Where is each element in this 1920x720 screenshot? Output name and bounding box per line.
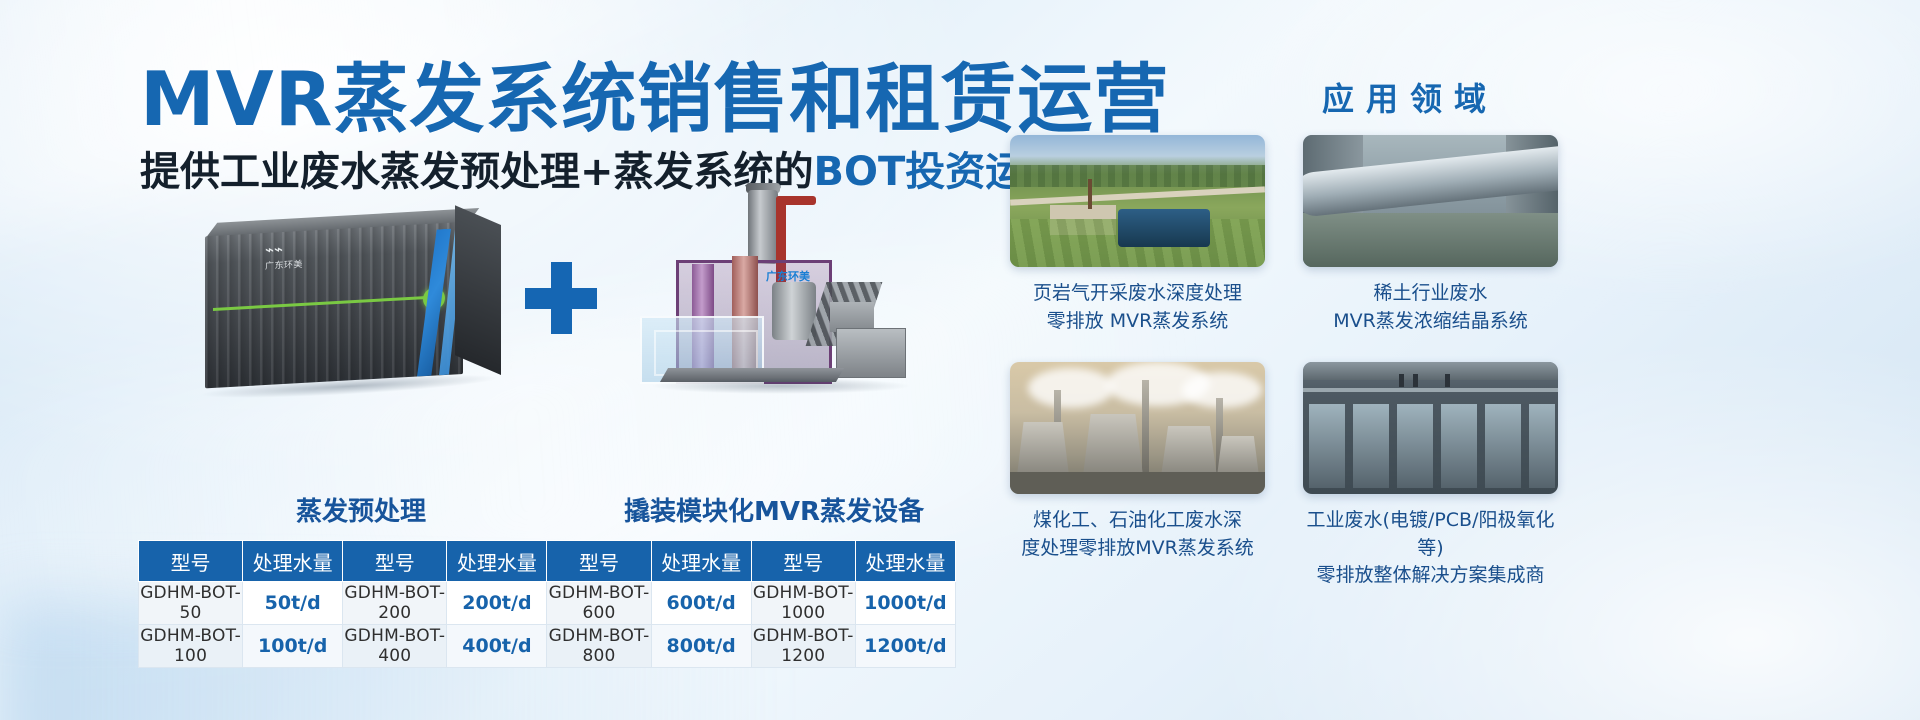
caption-line-1: 页岩气开采废水深度处理 xyxy=(1010,280,1265,308)
cell-capacity: 800t/d xyxy=(651,625,751,668)
cell-capacity: 1200t/d xyxy=(855,625,955,668)
caption-line-2: 零排放 MVR蒸发系统 xyxy=(1010,308,1265,336)
table-header-cell: 型号 xyxy=(343,541,447,582)
caption-line-1: 稀土行业废水 xyxy=(1303,280,1558,308)
application-card-caption: 页岩气开采废水深度处理 零排放 MVR蒸发系统 xyxy=(1010,280,1265,335)
page-subtitle: 提供工业废水蒸发预处理+蒸发系统的BOT投资运营 xyxy=(140,152,1065,192)
unit-body: ⌁⌁广东环美 xyxy=(205,222,463,388)
application-card-industrial-wastewater[interactable]: 工业废水(电镀/PCB/阳极氧化等) 零排放整体解决方案集成商 xyxy=(1303,362,1558,590)
skid-red-pipe-elbow xyxy=(776,196,816,205)
shale-gas-field-aerial-photo xyxy=(1010,135,1265,267)
cell-model: GDHM-BOT-1000 xyxy=(751,582,855,625)
application-card-caption: 煤化工、石油化工废水深 度处理零排放MVR蒸发系统 xyxy=(1010,507,1265,562)
cell-capacity: 200t/d xyxy=(447,582,547,625)
cell-capacity: 400t/d xyxy=(447,625,547,668)
table-header-cell: 型号 xyxy=(547,541,651,582)
cell-capacity: 600t/d xyxy=(651,582,751,625)
application-card-caption: 工业废水(电镀/PCB/阳极氧化等) 零排放整体解决方案集成商 xyxy=(1303,507,1558,590)
unit-brand-label: ⌁⌁广东环美 xyxy=(265,239,303,272)
application-card-shale-gas[interactable]: 页岩气开采废水深度处理 零排放 MVR蒸发系统 xyxy=(1010,135,1265,335)
caption-line-2: MVR蒸发浓缩结晶系统 xyxy=(1303,308,1558,336)
table-header-cell: 型号 xyxy=(751,541,855,582)
skid-vertical-tank xyxy=(748,190,778,264)
table-header-cell: 型号 xyxy=(139,541,243,582)
industrial-wastewater-tanks-photo xyxy=(1303,362,1558,494)
cell-capacity: 100t/d xyxy=(243,625,343,668)
table-header-cell: 处理水量 xyxy=(243,541,343,582)
cell-model: GDHM-BOT-1200 xyxy=(751,625,855,668)
left-content-panel: MVR蒸发系统销售和租赁运营 提供工业废水蒸发预处理+蒸发系统的BOT投资运营 … xyxy=(0,0,1010,720)
table-row: GDHM-BOT-100 100t/d GDHM-BOT-400 400t/d … xyxy=(139,625,956,668)
coal-chemical-cooling-towers-photo xyxy=(1010,362,1265,494)
application-card-coal-chemical[interactable]: 煤化工、石油化工废水深 度处理零排放MVR蒸发系统 xyxy=(1010,362,1265,562)
subtitle-prefix: 提供工业废水蒸发预处理+蒸发系统的 xyxy=(140,149,814,195)
cell-model: GDHM-BOT-800 xyxy=(547,625,651,668)
table-header-row: 型号 处理水量 型号 处理水量 型号 处理水量 型号 处理水量 xyxy=(139,541,956,582)
skid-mounted-mvr-evaporator-image: 广东环美 xyxy=(640,190,940,400)
application-card-caption: 稀土行业废水 MVR蒸发浓缩结晶系统 xyxy=(1303,280,1558,335)
table-header-cell: 处理水量 xyxy=(855,541,955,582)
banner-root: MVR蒸发系统销售和租赁运营 提供工业废水蒸发预处理+蒸发系统的BOT投资运营 … xyxy=(0,0,1920,720)
applications-title: 应用领域 xyxy=(1170,74,1650,120)
cell-model: GDHM-BOT-100 xyxy=(139,625,243,668)
unit-right-face xyxy=(455,205,501,375)
caption-line-2: 零排放整体解决方案集成商 xyxy=(1303,562,1558,590)
applications-panel: 应用领域 页岩气开采废水深度处理 零排放 MVR蒸发系统 稀土行业废水 MVR蒸… xyxy=(1010,0,1920,720)
table-row: GDHM-BOT-50 50t/d GDHM-BOT-200 200t/d GD… xyxy=(139,582,956,625)
cell-capacity: 1000t/d xyxy=(855,582,955,625)
table-header-cell: 处理水量 xyxy=(651,541,751,582)
application-card-rare-earth[interactable]: 稀土行业废水 MVR蒸发浓缩结晶系统 xyxy=(1303,135,1558,335)
spec-table: 型号 处理水量 型号 处理水量 型号 处理水量 型号 处理水量 GDHM-BOT… xyxy=(138,540,956,668)
equipment-caption-left: 蒸发预处理 xyxy=(296,491,426,528)
caption-line-2: 度处理零排放MVR蒸发系统 xyxy=(1010,535,1265,563)
cell-model: GDHM-BOT-600 xyxy=(547,582,651,625)
equipment-caption-right: 撬装模块化MVR蒸发设备 xyxy=(624,491,924,528)
cell-model: GDHM-BOT-400 xyxy=(343,625,447,668)
cell-capacity: 50t/d xyxy=(243,582,343,625)
caption-line-1: 工业废水(电镀/PCB/阳极氧化等) xyxy=(1303,507,1558,562)
evaporation-pretreatment-unit-image: ⌁⌁广东环美 xyxy=(205,220,505,407)
cell-model: GDHM-BOT-200 xyxy=(343,582,447,625)
rare-earth-pipe-channel-photo xyxy=(1303,135,1558,267)
cell-model: GDHM-BOT-50 xyxy=(139,582,243,625)
skid-shadow xyxy=(650,378,912,394)
skid-control-box xyxy=(836,328,906,378)
table-header-cell: 处理水量 xyxy=(447,541,547,582)
skid-brand-label: 广东环美 xyxy=(766,268,810,284)
plus-icon xyxy=(525,262,597,334)
caption-line-1: 煤化工、石油化工废水深 xyxy=(1010,507,1265,535)
